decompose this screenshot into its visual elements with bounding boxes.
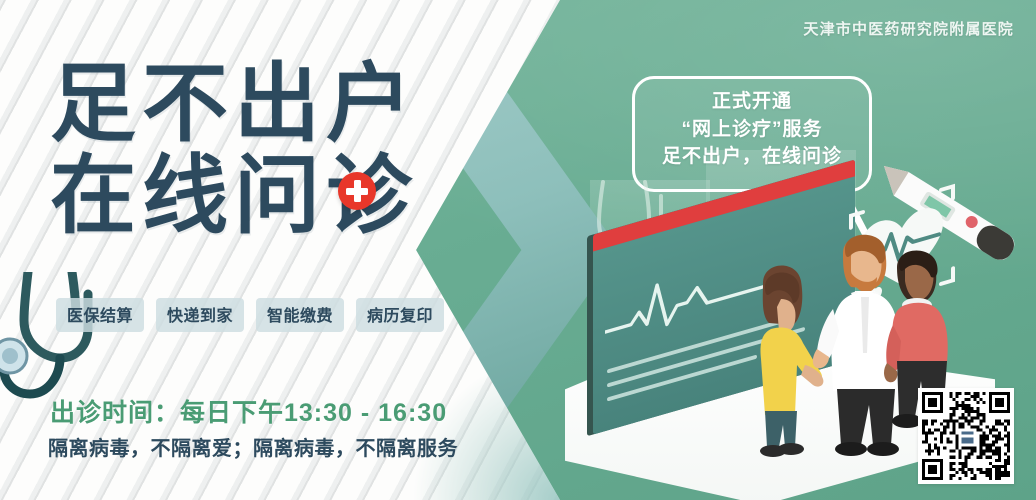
service-tag-3[interactable]: 病历复印 xyxy=(356,298,444,332)
service-tags: 医保结算 快递到家 智能缴费 病历复印 xyxy=(56,298,444,332)
page-title: 足不出户 在线问诊 xyxy=(50,62,418,239)
bubble-line-1: 正式开通 xyxy=(632,88,872,116)
headline-line-1: 足不出户 xyxy=(50,62,418,146)
consultation-hours: 出诊时间：每日下午13:30 - 16:30 xyxy=(50,393,447,429)
service-tag-1[interactable]: 快递到家 xyxy=(156,298,244,332)
bubble-line-2: “网上诊疗”服务 xyxy=(632,116,872,144)
slogan-text: 隔离病毒，不隔离爱；隔离病毒，不隔离服务 xyxy=(48,432,458,461)
stethoscope-icon xyxy=(0,272,114,412)
service-tag-0[interactable]: 医保结算 xyxy=(56,298,144,332)
hospital-online-consultation-banner: 足不出户 在线问诊 医保结算 快递到家 智能缴费 病历复印 出诊时间：每日下午1… xyxy=(0,0,1036,500)
hospital-name: 天津市中医药研究院附属医院 xyxy=(803,18,1014,39)
speech-bubble-text: 正式开通 “网上诊疗”服务 足不出户，在线问诊 xyxy=(632,88,872,171)
service-tag-2[interactable]: 智能缴费 xyxy=(256,298,344,332)
qr-code-icon[interactable] xyxy=(918,388,1014,484)
red-cross-icon xyxy=(338,172,376,210)
